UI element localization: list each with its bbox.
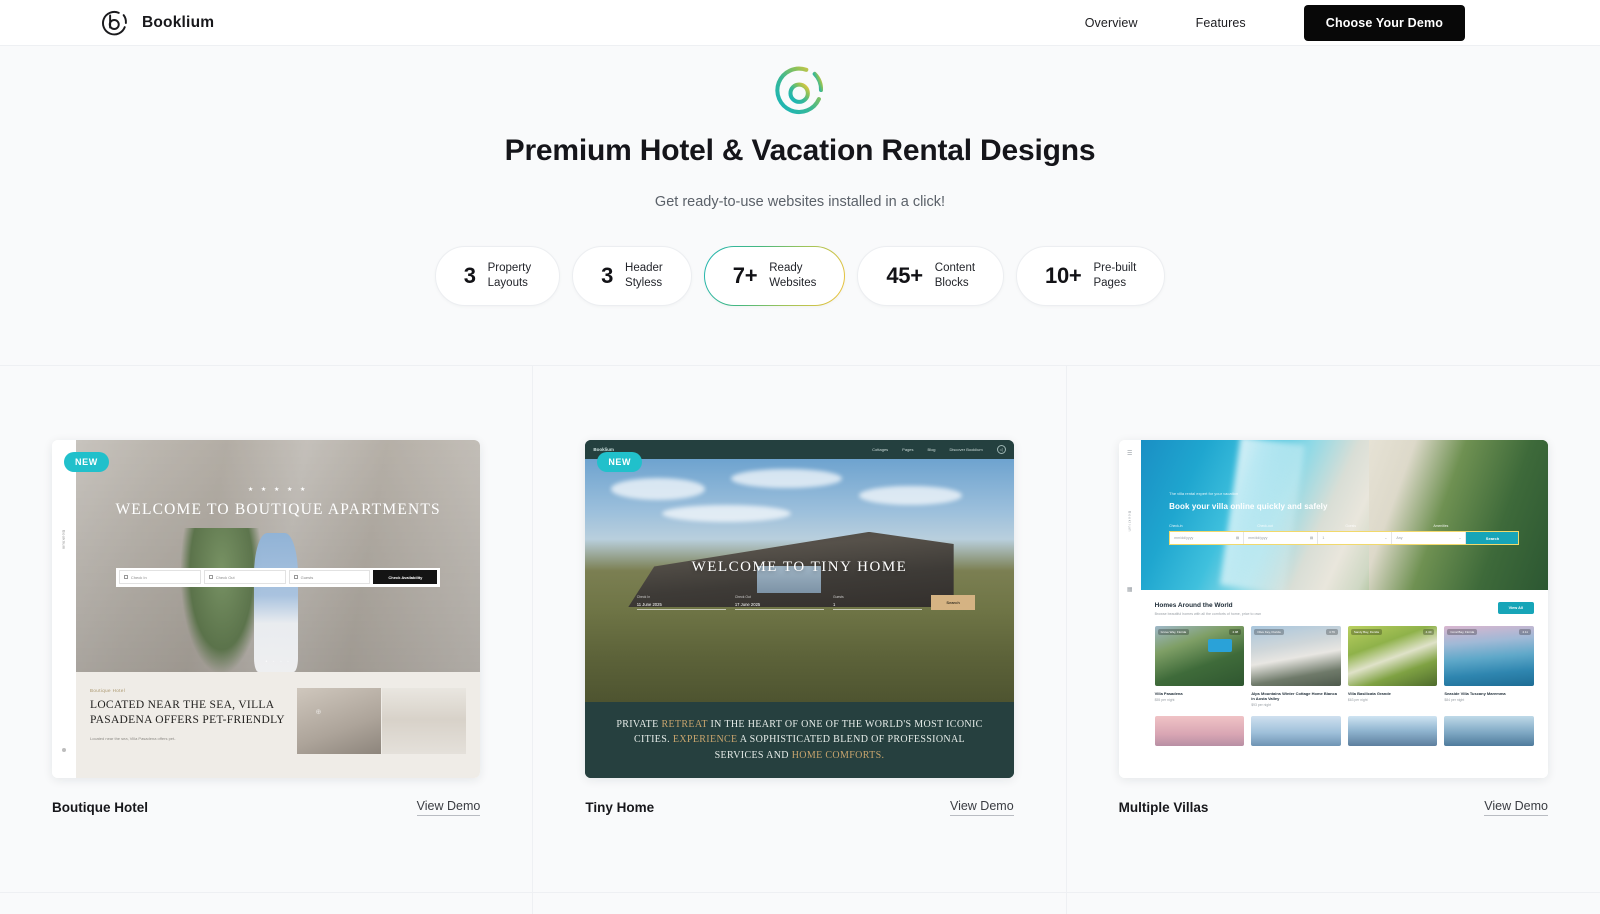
- field-value: Any: [1396, 536, 1402, 540]
- listing-tag-location: Sandy Bay, Florida: [1351, 629, 1382, 635]
- preview-thumbnails: [297, 688, 466, 754]
- field-label-check-in: Check-in: [1169, 524, 1255, 528]
- listing-tag-location: Olive Key, Florida: [1254, 629, 1283, 635]
- brand-logo[interactable]: Booklium: [100, 8, 214, 38]
- stat-number: 3: [464, 265, 476, 287]
- preview-eyebrow: The villa rental expert for your vacatio…: [1169, 491, 1238, 496]
- field-value: 1: [1322, 536, 1324, 540]
- preview-booking-bar: Check In Check Out Guests Check Availabi…: [116, 568, 439, 587]
- preview-copy: PRIVATE RETREAT IN THE HEART OF ONE OF T…: [615, 717, 983, 763]
- preview-field-guests: Guests 1: [833, 595, 922, 610]
- preview-hero-image: WELCOME TO TINY HOME Check In 11 June 20…: [585, 459, 1013, 702]
- preview-copy-block: PRIVATE RETREAT IN THE HEART OF ONE OF T…: [585, 702, 1013, 778]
- stat-number: 3: [601, 265, 613, 287]
- listing-image: [1348, 716, 1438, 746]
- stat-label: Content Blocks: [935, 261, 975, 290]
- preview-hero-image: The villa rental expert for your vacatio…: [1141, 440, 1548, 590]
- field-value: mm/dd/yyyy: [1248, 536, 1267, 540]
- listing-name: Alps Mountains Winter Cottage Home Bianc…: [1251, 691, 1341, 701]
- preview-section-subtitle: Browse beautiful homes with all the comf…: [1155, 612, 1261, 616]
- preview-input-check-in: mm/dd/yyyy ▤: [1170, 532, 1244, 544]
- listing-image: [1155, 716, 1245, 746]
- rail-dot-icon: [62, 748, 66, 752]
- chevron-down-icon: ⌄: [1458, 536, 1461, 540]
- field-value: 11 June 2025: [637, 602, 726, 607]
- preview-hero-heading: Book your villa online quickly and safel…: [1169, 502, 1327, 511]
- stat-number: 7+: [733, 265, 757, 287]
- preview-search-button: Search: [1466, 532, 1518, 544]
- site-header: Booklium Overview Features Choose Your D…: [0, 0, 1600, 46]
- view-demo-link[interactable]: View Demo: [1484, 799, 1548, 816]
- demo-cell-tiny-home: NEW Booklium Cottages Pages Blog Discove…: [533, 366, 1066, 893]
- preview-hero-heading: WELCOME TO TINY HOME: [585, 559, 1013, 576]
- listing-card: Coral Bay, Florida 4.11 Seaside Villa Tu…: [1444, 626, 1534, 707]
- field-label: Check In: [637, 595, 726, 599]
- preview-navbar: Booklium Cottages Pages Blog Discover Bo…: [585, 440, 1013, 459]
- demo-grid: NEW Booklium ★ ★ ★ ★ ★ WELCOME TO BOUTIQ…: [0, 366, 1600, 893]
- preview-input-guests: 1 ⌄: [1318, 532, 1392, 544]
- stat-label: Pre-built Pages: [1093, 261, 1136, 290]
- new-badge: NEW: [597, 452, 642, 472]
- listing-name: Villa Pasadena: [1155, 691, 1245, 696]
- preview-hero-heading: WELCOME TO BOUTIQUE APARTMENTS: [76, 500, 480, 519]
- new-badge: NEW: [64, 452, 109, 472]
- stat-number: 45+: [886, 265, 922, 287]
- grid-cell-placeholder: [1067, 893, 1600, 914]
- field-label-guests: Guests: [1345, 524, 1431, 528]
- choose-your-demo-button[interactable]: Choose Your Demo: [1304, 5, 1465, 41]
- stats-row: 3 Property Layouts 3 Header Styless 7+ R…: [435, 246, 1166, 306]
- demo-title: Tiny Home: [585, 800, 654, 815]
- preview-input-amenities: Any ⌄: [1392, 532, 1466, 544]
- listing-tag-rating: 4.79: [1326, 629, 1338, 635]
- booklium-logo-icon: [100, 8, 130, 38]
- cloud-shape-icon: [611, 478, 705, 500]
- demo-cell-boutique-hotel: NEW Booklium ★ ★ ★ ★ ★ WELCOME TO BOUTIQ…: [0, 366, 533, 893]
- listing-image: Sandy Bay, Florida 4.40: [1348, 626, 1438, 686]
- hamburger-menu-icon: ☰: [1127, 450, 1132, 457]
- stat-number: 10+: [1045, 265, 1081, 287]
- demo-title: Multiple Villas: [1119, 800, 1209, 815]
- preview-field-check-out: Check Out 17 June 2025: [735, 595, 824, 610]
- preview-nav-cottages: Cottages: [872, 447, 888, 452]
- listing-image: [1444, 716, 1534, 746]
- listing-tag-location: Grove Way, Florida: [1158, 629, 1190, 635]
- field-label-check-out: Check-out: [1257, 524, 1343, 528]
- field-value: mm/dd/yyyy: [1174, 536, 1193, 540]
- listing-image: [1251, 716, 1341, 746]
- wave-shape: [1220, 440, 1305, 590]
- preview-field-guests: Guests: [289, 570, 371, 584]
- preview-input-check-out: mm/dd/yyyy ▤: [1244, 532, 1318, 544]
- copy-highlight: EXPERIENCE: [673, 734, 738, 745]
- listing-card: Sandy Bay, Florida 4.40 Villa Basilicata…: [1348, 626, 1438, 707]
- preview-section-subtext: Located near the sea, Villa Pasadena off…: [90, 736, 287, 741]
- brand-name: Booklium: [142, 14, 214, 32]
- view-demo-link[interactable]: View Demo: [417, 799, 481, 816]
- preview-sidebar-rail: ☰ Booklium ▦: [1119, 440, 1141, 778]
- listing-tag-rating: 4.11: [1519, 629, 1531, 635]
- chevron-down-icon: ⌄: [1384, 536, 1387, 540]
- listing-card: Grove Way, Florida 4.98 Villa Pasadena $…: [1155, 626, 1245, 707]
- demo-preview-multiple-villas[interactable]: ☰ Booklium ▦ The villa rental expert for…: [1119, 440, 1548, 778]
- preview-section-heading: LOCATED NEAR THE SEA, VILLA PASADENA OFF…: [90, 698, 287, 728]
- field-label: Guests: [301, 575, 314, 580]
- listing-name: Seaside Villa Tuscany Maremma: [1444, 691, 1534, 696]
- grid-bottom-strip: [0, 893, 1600, 914]
- stat-pill-header-styles[interactable]: 3 Header Styless: [572, 246, 692, 306]
- nav-link-overview[interactable]: Overview: [1056, 16, 1167, 30]
- preview-search-icon: ◁: [997, 445, 1006, 454]
- preview-listing-row-secondary: [1155, 716, 1534, 746]
- preview-thumbnail: [297, 688, 381, 754]
- rail-brand-label: Booklium: [1128, 511, 1132, 532]
- preview-content-block: Boutique Hotel LOCATED NEAR THE SEA, VIL…: [76, 672, 480, 778]
- cloud-shape-icon: [859, 486, 962, 505]
- listing-image: Coral Bay, Florida 4.11: [1444, 626, 1534, 686]
- field-label: Check Out: [735, 595, 824, 599]
- stat-pill-content-blocks[interactable]: 45+ Content Blocks: [857, 246, 1004, 306]
- grid-icon: ▦: [1127, 586, 1133, 593]
- listing-price: $84 per night: [1444, 698, 1534, 702]
- preview-field-check-in: Check In 11 June 2025: [637, 595, 726, 610]
- grid-cell-placeholder: [533, 893, 1066, 914]
- cloud-shape-icon: [731, 469, 842, 488]
- listing-image: Olive Key, Florida 4.79: [1251, 626, 1341, 686]
- listing-price: $55 per night: [1155, 698, 1245, 702]
- listing-tag-location: Coral Bay, Florida: [1447, 629, 1477, 635]
- preview-hero-image: ★ ★ ★ ★ ★ WELCOME TO BOUTIQUE APARTMENTS…: [76, 440, 480, 672]
- preview-nav-pages: Pages: [902, 447, 913, 452]
- field-label: Check In: [131, 575, 147, 580]
- copy-part: PRIVATE: [616, 719, 661, 730]
- demo-title: Boutique Hotel: [52, 800, 148, 815]
- preview-stars: ★ ★ ★ ★ ★: [76, 486, 480, 493]
- stat-pill-property-layouts[interactable]: 3 Property Layouts: [435, 246, 560, 306]
- person-icon: [294, 575, 298, 579]
- stat-label: Ready Websites: [769, 261, 816, 290]
- preview-field-check-out: Check Out: [204, 570, 286, 584]
- listing-price: $93 per night: [1251, 703, 1341, 707]
- rail-brand-label: Booklium: [62, 530, 67, 550]
- copy-highlight: HOME COMFORTS.: [792, 750, 885, 761]
- demo-preview-tiny-home[interactable]: NEW Booklium Cottages Pages Blog Discove…: [585, 440, 1013, 778]
- header-nav: Overview Features Choose Your Demo: [1056, 5, 1465, 41]
- preview-sidebar-rail: Booklium: [52, 440, 76, 778]
- preview-listings-section: Homes Around the World Browse beautiful …: [1141, 590, 1548, 778]
- preview-check-availability-button: Check Availability: [373, 570, 437, 584]
- listing-price: $63 per night: [1348, 698, 1438, 702]
- preview-eyebrow: Boutique Hotel: [90, 688, 287, 693]
- listing-tag-rating: 4.98: [1229, 629, 1241, 635]
- demo-preview-boutique-hotel[interactable]: NEW Booklium ★ ★ ★ ★ ★ WELCOME TO BOUTIQ…: [52, 440, 480, 778]
- listing-image: Grove Way, Florida 4.98: [1155, 626, 1245, 686]
- page-title: Premium Hotel & Vacation Rental Designs: [505, 134, 1096, 168]
- hero-section: Premium Hotel & Vacation Rental Designs …: [0, 46, 1600, 366]
- preview-section-title: Homes Around the World: [1155, 602, 1261, 609]
- listing-card: Olive Key, Florida 4.79 Alps Mountains W…: [1251, 626, 1341, 707]
- preview-carousel-dots: • ◦ ◦ ◦: [76, 659, 480, 665]
- field-label-amenities: Amenities: [1433, 524, 1519, 528]
- nav-link-features[interactable]: Features: [1167, 16, 1275, 30]
- copy-highlight: RETREAT: [661, 719, 707, 730]
- beach-shape: [1369, 440, 1548, 590]
- demo-footer: Tiny Home View Demo: [585, 778, 1013, 816]
- preview-listing-cards: Grove Way, Florida 4.98 Villa Pasadena $…: [1155, 626, 1534, 707]
- preview-booking-bar: Check In 11 June 2025 Check Out 17 June …: [637, 595, 975, 610]
- preview-thumbnail: [382, 688, 466, 754]
- stat-label: Header Styless: [625, 261, 663, 290]
- stat-label: Property Layouts: [488, 261, 531, 290]
- preview-nav-blog: Blog: [928, 447, 936, 452]
- hero-booklium-logo-icon: [772, 62, 828, 118]
- page-subtitle: Get ready-to-use websites installed in a…: [655, 194, 945, 210]
- cloud-shape-icon: [662, 505, 790, 522]
- calendar-icon: ▤: [1236, 536, 1239, 540]
- calendar-icon: [209, 575, 213, 579]
- view-demo-link[interactable]: View Demo: [950, 799, 1014, 816]
- calendar-icon: ▤: [1310, 536, 1313, 540]
- field-label: Check Out: [216, 575, 235, 580]
- field-label: Guests: [833, 595, 922, 599]
- grid-cell-placeholder: [0, 893, 533, 914]
- preview-search-button: Search: [931, 595, 975, 610]
- field-value: 1: [833, 602, 922, 607]
- preview-field-check-in: Check In: [119, 570, 201, 584]
- preview-nav-discover: Discover Booklium: [950, 447, 983, 452]
- demo-footer: Multiple Villas View Demo: [1119, 778, 1548, 816]
- calendar-icon: [124, 575, 128, 579]
- preview-booking-form: Check-in Check-out Guests Amenities mm/d…: [1169, 524, 1519, 545]
- field-value: 17 June 2025: [735, 602, 824, 607]
- stat-pill-ready-websites[interactable]: 7+ Ready Websites: [704, 246, 846, 306]
- preview-view-all-button: View All: [1498, 602, 1534, 614]
- listing-tag-rating: 4.40: [1423, 629, 1435, 635]
- stat-pill-pre-built-pages[interactable]: 10+ Pre-built Pages: [1016, 246, 1165, 306]
- demo-cell-multiple-villas: ☰ Booklium ▦ The villa rental expert for…: [1067, 366, 1600, 893]
- listing-name: Villa Basilicata Grande: [1348, 691, 1438, 696]
- demo-footer: Boutique Hotel View Demo: [52, 778, 480, 816]
